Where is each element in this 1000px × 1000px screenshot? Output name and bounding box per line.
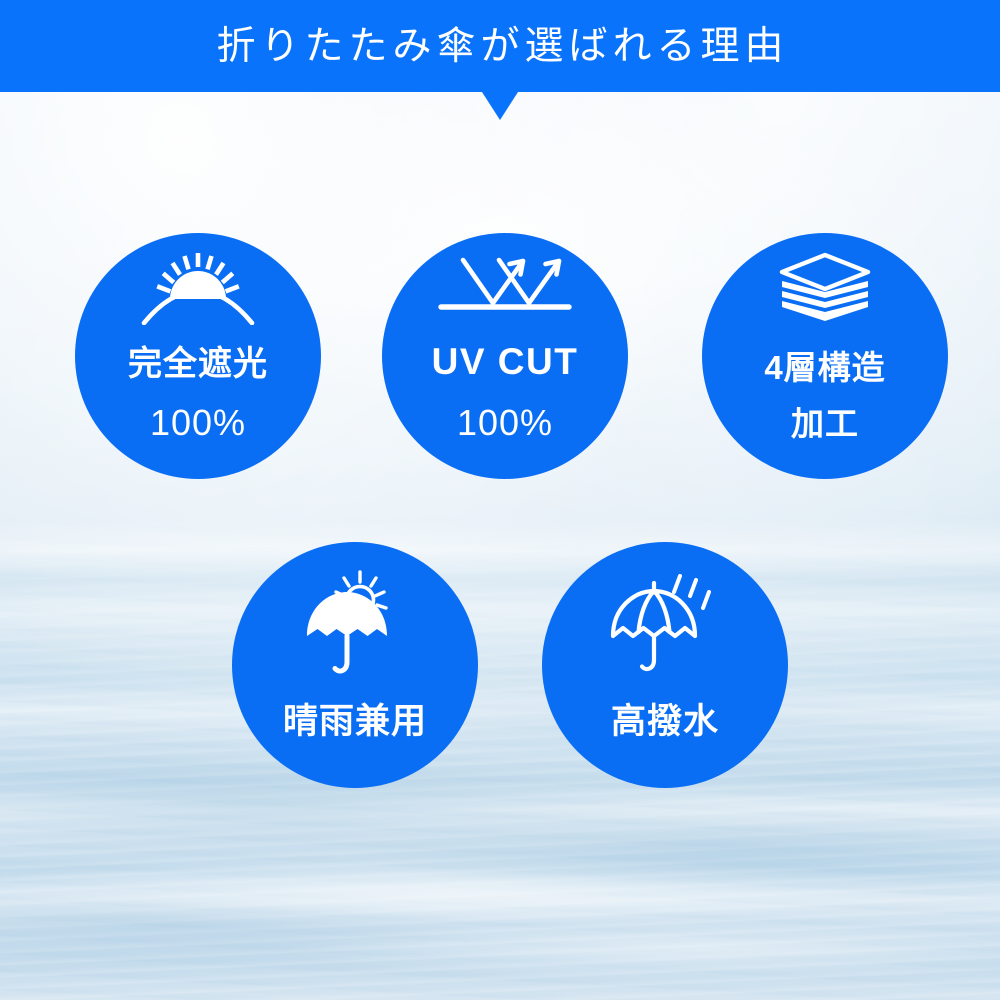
- header-notch-triangle: [482, 92, 518, 120]
- sun-over-horizon-icon: [140, 251, 256, 325]
- uv-reflect-arrows-icon: [437, 251, 573, 317]
- umbrella-with-raindrops-icon: [605, 570, 725, 680]
- badge-label-group: 4層構造 加工: [764, 331, 885, 461]
- page-title: 折りたたみ傘が選ばれる理由: [211, 27, 788, 66]
- header-banner: 折りたたみ傘が選ばれる理由: [0, 0, 1000, 92]
- badge-label-line2: 100%: [128, 402, 268, 443]
- umbrella-with-sun-icon: [294, 570, 416, 680]
- badge-label-group: 晴雨兼用: [283, 684, 427, 760]
- badge-label-line1: 高撥水: [611, 702, 719, 742]
- badge-label-line1: 完全遮光: [128, 345, 268, 384]
- promo-banner-stage: 折りたたみ傘が選ばれる理由: [0, 0, 1000, 1000]
- feature-badge-high-water-repellent[interactable]: 高撥水: [542, 542, 788, 788]
- badge-label-group: UV CUT 100%: [432, 323, 579, 461]
- badge-label-line1: UV CUT: [432, 341, 579, 383]
- badge-label-group: 高撥水: [611, 684, 719, 760]
- badge-label-line1: 4層構造: [764, 349, 885, 387]
- badge-label-line2: 100%: [432, 402, 579, 443]
- badge-label-line1: 晴雨兼用: [283, 702, 427, 742]
- background-vignette: [0, 0, 1000, 1000]
- badge-label-group: 完全遮光 100%: [128, 327, 268, 461]
- feature-badge-uv-cut[interactable]: UV CUT 100%: [382, 233, 628, 479]
- feature-badge-kanzen-shakou[interactable]: 完全遮光 100%: [75, 233, 321, 479]
- feature-badge-sun-rain-combined[interactable]: 晴雨兼用: [232, 542, 478, 788]
- feature-badge-four-layer[interactable]: 4層構造 加工: [702, 233, 948, 479]
- stacked-layers-icon: [776, 251, 874, 325]
- badge-label-line2: 加工: [764, 405, 885, 443]
